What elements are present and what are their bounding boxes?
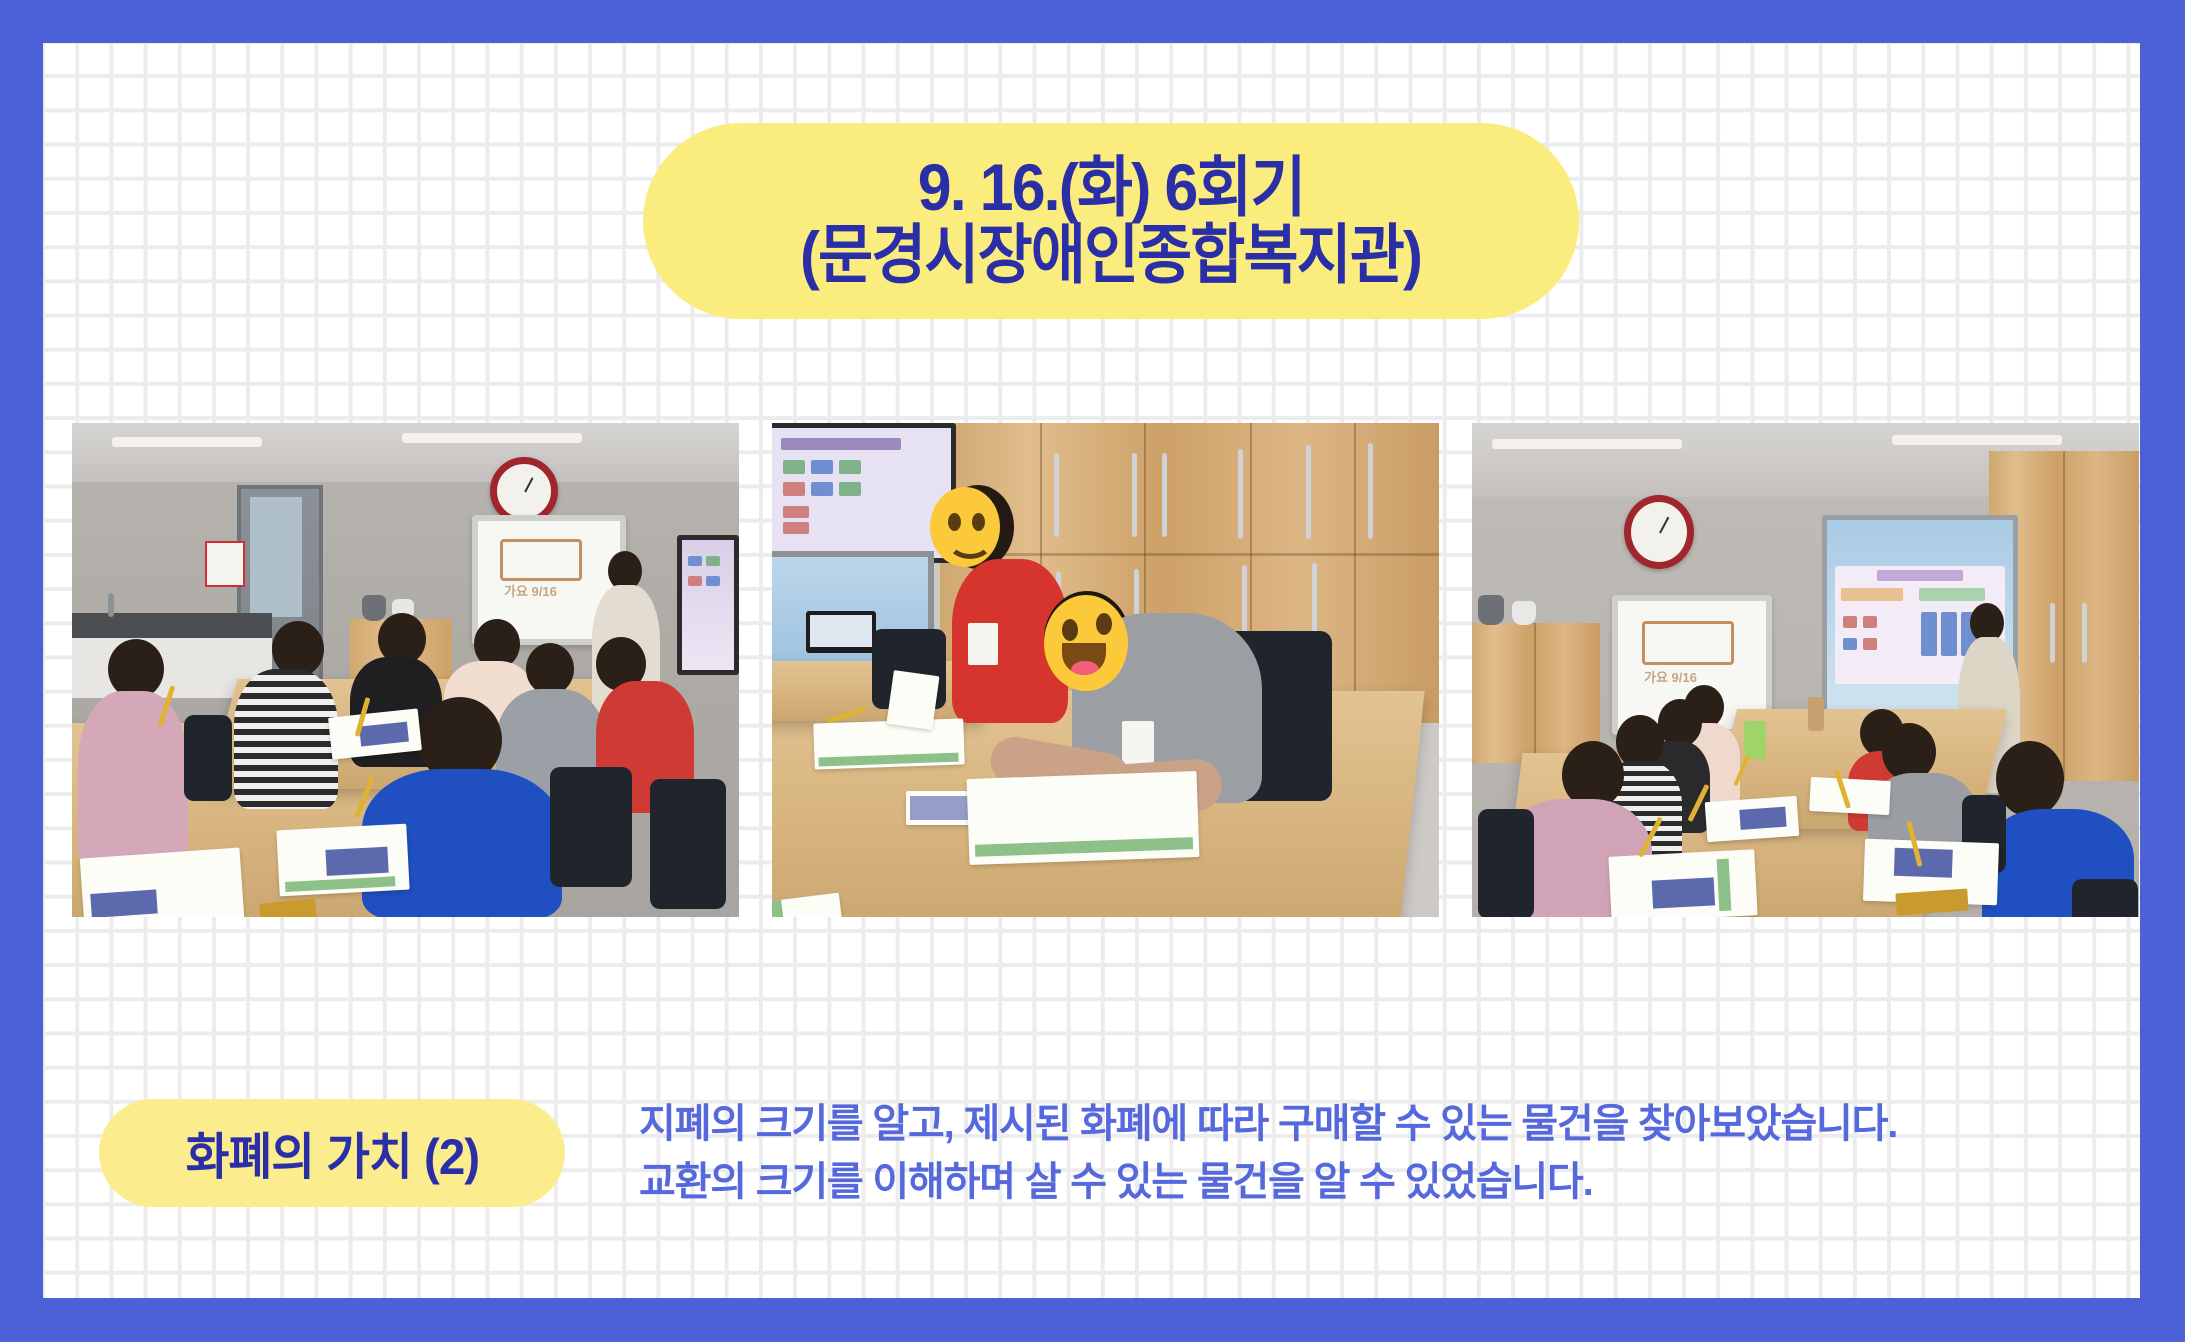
screen-chip: [706, 576, 720, 586]
slide-chip: [1921, 612, 1937, 656]
screen-chip: [783, 506, 809, 518]
photo-3-chair: [2072, 879, 2138, 917]
emoji-open-mouth: [1062, 643, 1106, 675]
lesson-label-pill: 화폐의 가치 (2): [99, 1099, 565, 1207]
emoji-smile: [947, 523, 993, 559]
photo-1-board-box: [500, 539, 582, 581]
photo-1-notice: [205, 541, 245, 587]
photo-1-participant-body: [78, 691, 188, 871]
worksheet-strip: [818, 753, 958, 767]
photo-2-worksheet: [967, 771, 1200, 865]
photo-1-chair: [184, 715, 232, 801]
photo-3: 가요 9/16: [1472, 423, 2139, 917]
worksheet-table: [90, 889, 158, 917]
cabinet-handle: [1306, 445, 1311, 539]
slide-chip: [1863, 616, 1877, 628]
slide-chip: [1919, 588, 1985, 601]
screen-chip: [839, 460, 861, 474]
slide-title-bar: [1877, 570, 1963, 581]
ceiling-light-icon: [1492, 439, 1682, 449]
title-banner: 9. 16.(화) 6회기 (문경시장애인종합복지관): [643, 123, 1579, 319]
cabinet-handle: [1238, 449, 1243, 539]
worksheet-strip: [772, 900, 787, 917]
photo-1-worksheet: [80, 848, 244, 917]
screen-chip: [811, 460, 833, 474]
ceiling-light-icon: [1892, 435, 2062, 445]
photo-2-laptop-screen: [810, 615, 872, 647]
photo-3-kettle: [1478, 595, 1504, 625]
photo-3-kettle: [1512, 601, 1536, 625]
photo-1-door-glass: [250, 497, 302, 617]
photo-1-worksheet: [276, 824, 409, 897]
photo-1-counter: [72, 613, 272, 641]
cabinet-shelf-line: [940, 553, 1439, 556]
photo-1-monitor: [677, 535, 739, 675]
screen-chip: [706, 556, 720, 566]
photo-3-board-writing: 가요 9/16: [1644, 667, 1697, 686]
photo-3-cabinets-left: [1472, 623, 1600, 763]
title-line-1: 9. 16.(화) 6회기: [918, 154, 1305, 221]
cabinet-handle: [1054, 453, 1059, 537]
screen-chip: [811, 482, 833, 496]
worksheet-table: [325, 847, 388, 876]
photo-1-participant-body: [234, 669, 338, 809]
photo-1-kettle: [362, 595, 386, 621]
screen-chip: [688, 576, 702, 586]
description-block: 지폐의 크기를 알고, 제시된 화폐에 따라 구매할 수 있는 물건을 찾아보았…: [639, 1093, 1897, 1211]
description-line-1: 지폐의 크기를 알고, 제시된 화폐에 따라 구매할 수 있는 물건을 찾아보았…: [639, 1095, 1897, 1153]
ceiling-light-icon: [402, 433, 582, 443]
screen-chip: [839, 482, 861, 496]
lesson-label-text: 화폐의 가치 (2): [185, 1117, 478, 1189]
photo-2-name-tag: [1122, 721, 1154, 765]
smiley-face-emoji: [930, 487, 1000, 567]
photo-2-worksheet: [813, 718, 965, 769]
worksheet-table: [1739, 807, 1786, 830]
photo-3-wall-clock: [1624, 495, 1694, 569]
photo-1-chair: [650, 779, 726, 909]
worksheet-strip: [975, 837, 1193, 857]
cabinet-handle: [1162, 453, 1167, 537]
worksheet-table: [359, 722, 409, 747]
screen-title-bar: [781, 438, 901, 450]
photo-1: 가요 9/16: [72, 423, 739, 917]
photo-3-board-box: [1642, 621, 1734, 665]
photo-3-chair: [1478, 809, 1534, 917]
photo-3-paper-cup: [1808, 697, 1824, 731]
photo-1-faucet: [108, 593, 114, 617]
emoji-eye-right: [1096, 613, 1112, 635]
photo-1-participant-head: [526, 643, 574, 695]
footer: 화폐의 가치 (2) 지폐의 크기를 알고, 제시된 화폐에 따라 구매할 수 …: [99, 1093, 2049, 1233]
photo-2-held-paper: [886, 670, 939, 730]
poster-frame: 9. 16.(화) 6회기 (문경시장애인종합복지관): [0, 0, 2185, 1342]
screen-chip: [688, 556, 702, 566]
grid-paper-canvas: 9. 16.(화) 6회기 (문경시장애인종합복지관): [43, 43, 2140, 1298]
worksheet-table: [1652, 877, 1715, 908]
worksheet-table: [1894, 848, 1953, 878]
cabinet-handle: [2082, 603, 2087, 663]
photo-row: 가요 9/16: [72, 423, 2140, 917]
photo-3-worksheet: [1809, 777, 1891, 815]
photo-3-participant-head: [1996, 741, 2064, 817]
slide-chip: [1841, 588, 1903, 601]
emoji-tongue: [1071, 661, 1099, 675]
emoji-eye-left: [1062, 619, 1078, 641]
cabinet-handle: [1368, 443, 1373, 539]
ceiling-light-icon: [112, 437, 262, 447]
cabinet-handle: [1132, 453, 1137, 537]
photo-1-chair: [550, 767, 632, 887]
cabinet-handle: [2050, 603, 2055, 663]
slide-chip: [1941, 612, 1957, 656]
worksheet-strip: [1717, 859, 1732, 912]
title-line-2: (문경시장애인종합복지관): [800, 222, 1421, 288]
worksheet-strip: [285, 876, 395, 892]
photo-3-worksheet: [1608, 849, 1757, 917]
slide-chip: [1863, 638, 1877, 650]
description-line-2: 교환의 크기를 이해하며 살 수 있는 물건을 알 수 있었습니다.: [639, 1153, 1897, 1211]
open-mouth-face-emoji: [1044, 595, 1128, 691]
photo-1-participant-head: [108, 639, 164, 699]
slide-chip: [1843, 638, 1857, 650]
photo-3-worksheet: [1705, 796, 1800, 842]
photo-2: [772, 423, 1439, 917]
photo-1-ceiling: [72, 423, 739, 482]
screen-chip: [783, 522, 809, 534]
money-grid: [910, 796, 972, 820]
slide-chip: [1843, 616, 1857, 628]
cabinet-seam: [1534, 623, 1536, 763]
photo-1-board-writing: 가요 9/16: [504, 581, 557, 600]
cabinet-seam: [2063, 451, 2065, 781]
photo-2-name-tag: [968, 623, 998, 665]
screen-chip: [783, 482, 805, 496]
photo-2-money-sheet: [906, 791, 976, 825]
photo-2-presentation-screen: [772, 423, 956, 563]
screen-chip: [783, 460, 805, 474]
photo-3-participant-head: [1658, 699, 1702, 747]
